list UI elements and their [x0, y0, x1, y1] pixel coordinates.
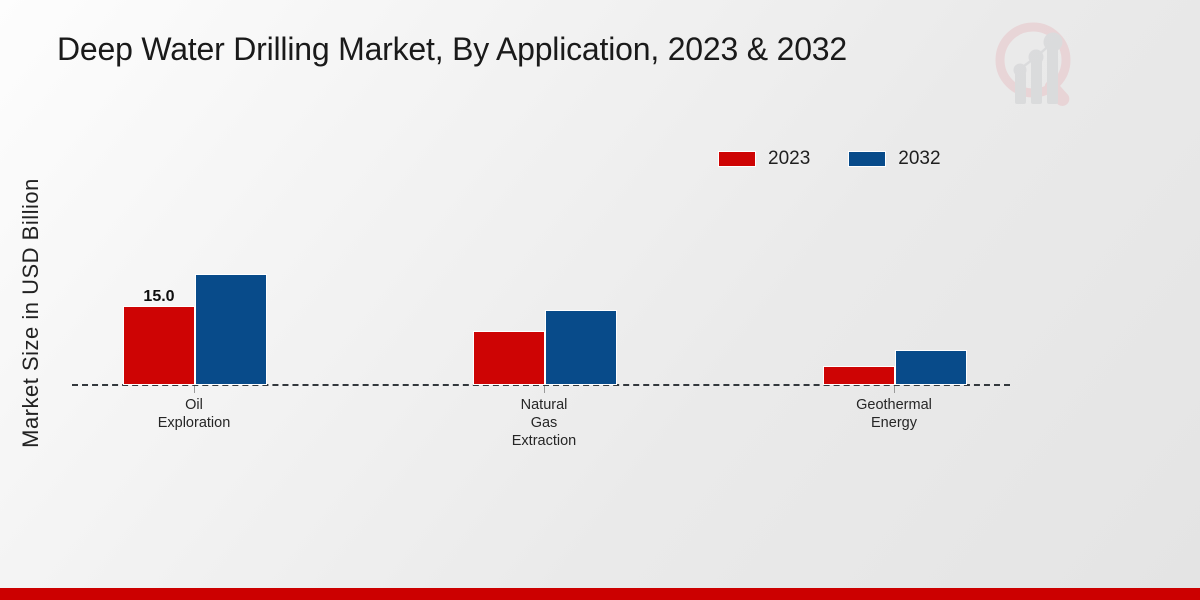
x-axis-label-line: Gas [434, 414, 654, 432]
x-tick-oil-exploration [194, 386, 195, 393]
x-axis-label-oil-exploration: Oil Exploration [84, 396, 304, 432]
x-axis-label-geothermal-energy: Geothermal Energy [784, 396, 1004, 432]
x-axis-label-line: Oil [84, 396, 304, 414]
bar-2032-oil-exploration[interactable] [195, 274, 267, 385]
x-axis-label-line: Exploration [84, 414, 304, 432]
x-axis-label-natural-gas-extraction: Natural Gas Extraction [434, 396, 654, 450]
x-tick-natural-gas-extraction [544, 386, 545, 393]
bar-2032-geothermal-energy[interactable] [895, 350, 967, 385]
x-axis-label-line: Geothermal [784, 396, 1004, 414]
x-axis-label-line: Extraction [434, 432, 654, 450]
x-axis-label-line: Energy [784, 414, 1004, 432]
bar-2023-geothermal-energy[interactable] [823, 366, 895, 385]
bar-2032-natural-gas-extraction[interactable] [545, 310, 617, 385]
bar-2023-oil-exploration[interactable] [123, 306, 195, 385]
infographic-canvas: Deep Water Drilling Market, By Applicati… [0, 0, 1200, 600]
bar-value-2023-oil-exploration: 15.0 [123, 288, 195, 306]
bar-2023-natural-gas-extraction[interactable] [473, 331, 545, 385]
x-axis-label-line: Natural [434, 396, 654, 414]
plot-area: 15.0 Oil Exploration Natural Gas Extract… [0, 0, 1200, 600]
footer-accent-stripe [0, 588, 1200, 600]
x-tick-geothermal-energy [894, 386, 895, 393]
